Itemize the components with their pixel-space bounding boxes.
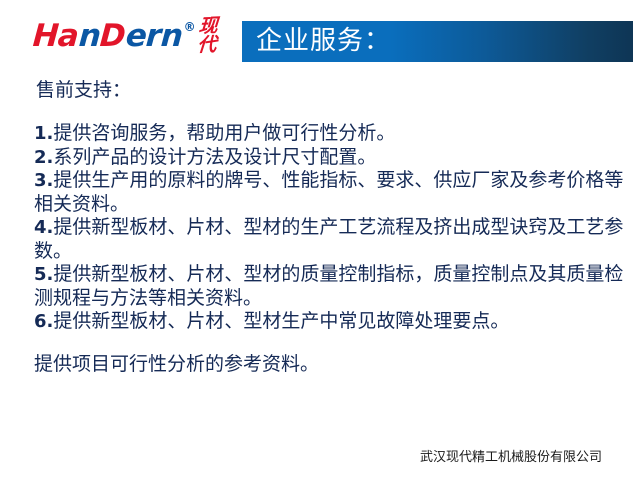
- list-item-text: 提供新型板材、片材、型材的质量控制指标，质量控制点及其质量检测规程与方法等相关资…: [34, 263, 623, 309]
- list-item-text: 提供生产用的原料的牌号、性能指标、要求、供应厂家及参考价格等相关资料。: [34, 169, 623, 215]
- list-item-text: 提供新型板材、片材、型材的生产工艺流程及挤出成型诀窍及工艺参数。: [34, 216, 623, 262]
- list-item-text: 提供咨询服务，帮助用户做可行性分析。: [53, 122, 395, 144]
- logo-letter-a: a: [57, 19, 80, 53]
- list-item-number: 3.: [34, 170, 53, 191]
- list-item: 1.提供咨询服务，帮助用户做可行性分析。: [34, 122, 624, 146]
- closing-line: 提供项目可行性分析的参考资料。: [34, 353, 624, 377]
- brand-logo: H a n D e r n ® 现 代: [33, 19, 217, 61]
- list-item: 5.提供新型板材、片材、型材的质量控制指标，质量控制点及其质量检测规程与方法等相…: [34, 263, 624, 310]
- list-item-number: 1.: [34, 123, 53, 144]
- title-banner: 企业服务：: [242, 21, 633, 62]
- service-list: 1.提供咨询服务，帮助用户做可行性分析。 2.系列产品的设计方法及设计尺寸配置。…: [34, 122, 624, 395]
- list-item: 4.提供新型板材、片材、型材的生产工艺流程及挤出成型诀窍及工艺参数。: [34, 216, 624, 263]
- logo-letter-e: e: [124, 19, 147, 53]
- logo-letter-n2: n: [160, 19, 184, 53]
- list-item-number: 4.: [34, 217, 53, 238]
- list-item: 6.提供新型板材、片材、型材生产中常见故障处理要点。: [34, 310, 624, 334]
- list-item-number: 5.: [34, 264, 53, 285]
- logo-letter-n1: n: [78, 19, 102, 53]
- list-item: 3.提供生产用的原料的牌号、性能指标、要求、供应厂家及参考价格等相关资料。: [34, 169, 624, 216]
- company-name: 武汉现代精工机械股份有限公司: [420, 450, 602, 465]
- list-item-text: 提供新型板材、片材、型材生产中常见故障处理要点。: [53, 310, 509, 332]
- list-item-number: 6.: [34, 311, 53, 332]
- page-title: 企业服务：: [256, 25, 391, 58]
- list-item-number: 2.: [34, 147, 53, 168]
- logo-letter-h: H: [32, 19, 60, 53]
- logo-chinese-mark: 现 代: [196, 17, 218, 56]
- logo-chinese-char-2: 代: [196, 36, 216, 56]
- list-item: 2.系列产品的设计方法及设计尺寸配置。: [34, 146, 624, 170]
- list-item-text: 系列产品的设计方法及设计尺寸配置。: [53, 146, 376, 168]
- page-header: H a n D e r n ® 现 代 企业服务：: [0, 0, 633, 70]
- logo-letter-d: D: [99, 19, 127, 53]
- page-footer: 武汉现代精工机械股份有限公司: [0, 446, 633, 466]
- section-heading: 售前支持：: [36, 78, 131, 102]
- registered-trademark-icon: ®: [184, 20, 196, 34]
